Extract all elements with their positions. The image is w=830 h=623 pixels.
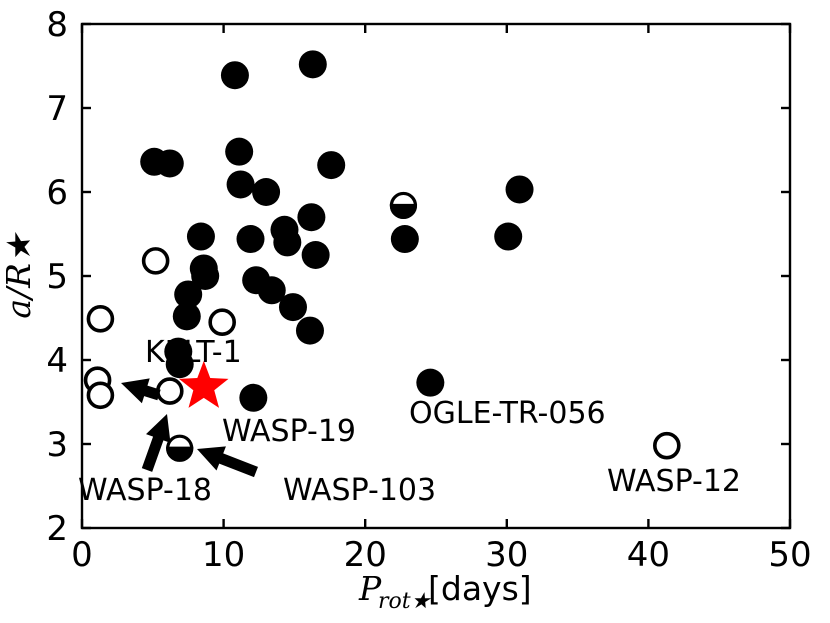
data-point-filled [273,228,301,256]
data-point-filled [416,369,444,397]
data-point-open [655,434,679,458]
data-point-filled [227,170,255,198]
y-tick-label: 3 [46,425,68,465]
data-point-filled [302,241,330,269]
x-tick-label: 40 [627,535,670,575]
data-point-filled [279,293,307,321]
data-point-open [144,249,168,273]
data-point-filled [506,175,534,203]
data-point-filled [297,203,325,231]
data-point-filled [237,225,265,253]
data-point-filled [156,149,184,177]
scatter-figure: 01020304050 2345678 P rot★ [days] a/R★ K… [0,0,830,623]
y-tick-label: 6 [46,173,68,213]
x-axis-title-unit: [days] [428,569,532,608]
annotation-wasp-18: WASP-18 [78,473,212,508]
annotation-kelt-1: KELT-1 [145,335,242,370]
data-point-filled [187,223,215,251]
data-point-half-filled [168,436,192,460]
annotation-wasp-12: WASP-12 [607,464,741,499]
data-point-open [210,310,234,334]
data-point-filled [221,61,249,89]
data-point-filled [225,138,253,166]
x-tick-label: 0 [71,535,93,575]
data-point-filled [317,151,345,179]
arrow-to-wasp-18 [142,414,171,472]
annotation-wasp-103: WASP-103 [283,473,436,508]
y-tick-label: 7 [46,89,68,129]
y-axis-title: a/R★ [0,231,38,319]
data-point-open [158,379,182,403]
data-point-filled [239,384,267,412]
data-point-filled [299,50,327,78]
data-point-half-filled [391,193,415,217]
y-tick-label: 2 [46,509,68,549]
y-tick-label: 8 [46,5,68,45]
annotation-ogle-tr-056: OGLE-TR-056 [409,396,606,431]
data-point-filled [296,317,324,345]
plot-canvas: 01020304050 2345678 P rot★ [days] a/R★ K… [0,0,830,623]
data-point-open [88,383,112,407]
y-tick-labels: 2345678 [46,5,68,549]
x-tick-label: 10 [202,535,245,575]
data-point-filled [252,178,280,206]
arrow-to-wasp-18-pair [121,378,161,403]
annotation-wasp-19: WASP-19 [222,414,356,449]
annotation-labels: KELT-1WASP-19WASP-18WASP-103OGLE-TR-056W… [78,335,741,508]
data-point-open [88,307,112,331]
x-axis-title-subscript: rot★ [378,589,432,614]
data-point-filled [391,225,419,253]
data-point-filled [173,302,201,330]
y-tick-label: 4 [46,341,68,381]
y-axis-title-group: a/R★ [0,231,38,319]
y-tick-label: 5 [46,257,68,297]
data-point-filled [494,223,522,251]
x-tick-label: 50 [768,535,811,575]
